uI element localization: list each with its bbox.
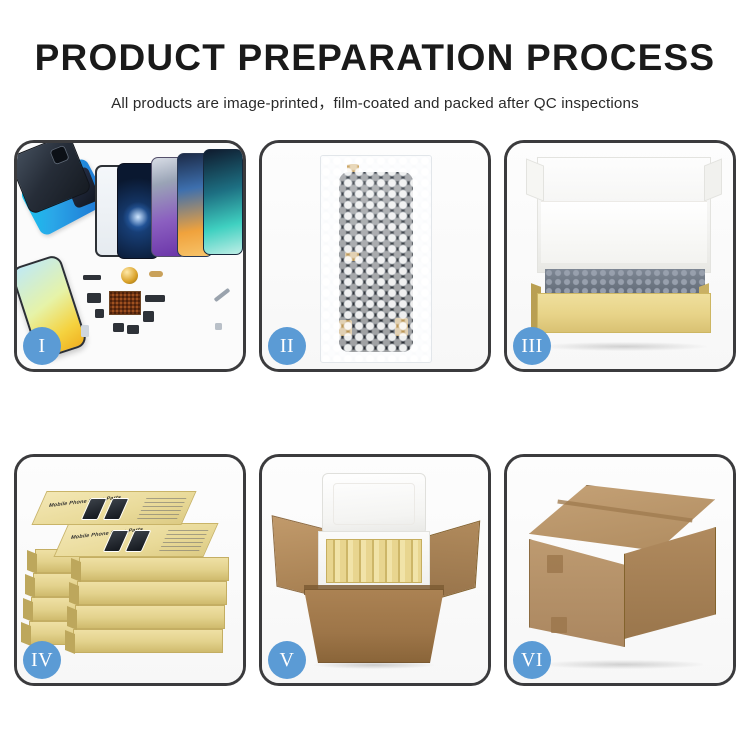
flex-cable-icon — [145, 295, 165, 302]
yellow-boxes-inside-icon — [326, 539, 422, 583]
page-title: PRODUCT PREPARATION PROCESS — [0, 38, 750, 78]
top-box-lid: Mobile Phone Spare Parts — [53, 523, 218, 557]
stacked-box-slab — [77, 581, 227, 605]
carton-tape-icon — [547, 555, 563, 573]
top-box-lid: Mobile Phone Spare Parts — [31, 491, 196, 525]
product-preparation-infographic: PRODUCT PREPARATION PROCESS All products… — [0, 0, 750, 750]
chip-grid-icon — [109, 291, 141, 315]
styrofoam-lid-icon — [322, 473, 426, 535]
stacked-box-slab — [79, 557, 229, 581]
carton-tape-icon — [551, 617, 567, 633]
process-panel-6: VI — [504, 454, 736, 686]
panel-badge-4: IV — [23, 641, 61, 679]
process-panel-1: I — [14, 140, 246, 372]
box-stack-icon: Mobile Phone Spare Parts Mobile Phone Sp… — [25, 479, 241, 669]
component-bit-icon — [127, 325, 139, 334]
component-bit-icon — [143, 311, 154, 322]
process-panel-4: Mobile Phone Spare Parts Mobile Phone Sp… — [14, 454, 246, 686]
component-bit-icon — [113, 323, 124, 332]
process-panel-3: III — [504, 140, 736, 372]
component-bit-icon — [81, 325, 89, 337]
component-bit-icon — [87, 293, 101, 303]
header: PRODUCT PREPARATION PROCESS All products… — [0, 0, 750, 113]
process-panel-2: II — [259, 140, 491, 372]
process-panel-5: V — [259, 454, 491, 686]
stacked-box-slab — [73, 629, 223, 653]
drop-shadow — [314, 661, 434, 669]
drop-shadow — [541, 342, 707, 351]
panel-badge-2: II — [268, 327, 306, 365]
carton-left-face-icon — [529, 539, 625, 647]
phone-screen-teal-icon — [203, 149, 243, 255]
panel-badge-1: I — [23, 327, 61, 365]
carton-body-icon — [304, 589, 444, 663]
panel-badge-3: III — [513, 327, 551, 365]
screw-icon — [215, 323, 222, 330]
panel-badge-5: V — [268, 641, 306, 679]
foam-sheet-icon — [541, 201, 707, 263]
yellow-box-front-icon — [537, 293, 711, 333]
tweezers-icon — [214, 288, 231, 302]
stacked-box-slab — [75, 605, 225, 629]
process-panel-grid: I II — [14, 140, 736, 685]
component-bit-icon — [95, 309, 104, 318]
component-bit-icon — [149, 271, 163, 277]
panel-badge-6: VI — [513, 641, 551, 679]
box-spec-lines-icon — [159, 530, 209, 552]
copper-coil-icon — [121, 267, 138, 284]
box-spec-lines-icon — [137, 498, 187, 520]
component-bit-icon — [83, 275, 101, 280]
bubble-texture-icon — [321, 156, 431, 362]
bubble-wrap-bag-icon — [320, 155, 432, 363]
drop-shadow — [543, 660, 703, 669]
page-subtitle: All products are image-printed，film-coat… — [0, 91, 750, 113]
